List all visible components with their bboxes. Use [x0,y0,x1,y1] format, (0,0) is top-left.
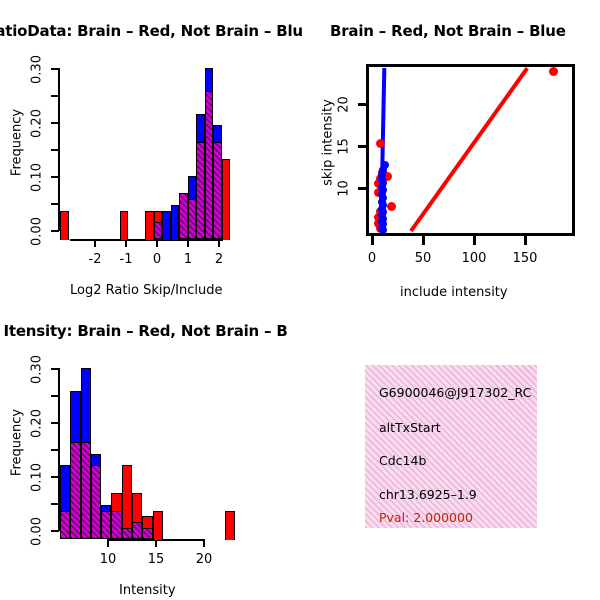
histogram-bar [122,528,132,539]
panel-scatter-xtick [524,236,527,245]
panel-intensity-ytick [51,530,59,532]
histogram-bar [222,159,231,240]
panel-intensity-histogram: ne Itensity: Brain – Red, Not Brain – B … [0,300,300,600]
scatter-point-red [549,67,558,76]
regression-line-red [410,67,530,232]
panel-ratio-ylabel: Frequency [10,103,25,183]
panel-ratio-ytick-label: 0.30 [30,50,45,90]
panel-ratio-xtick [156,239,158,247]
panel-intensity-ytick [51,503,59,505]
info-line: Cdc14b [379,453,426,468]
panel-intensity-xtick [155,539,157,547]
panel-intensity-xtick [203,539,205,547]
panel-scatter-frame-right [572,64,575,236]
histogram-bar [213,125,222,144]
panel-scatter-xtick [473,236,476,245]
panel-scatter-ytick-label: 10 [337,174,352,204]
panel-ratio-xtick-label: -1 [111,252,141,267]
panel-intensity-ytick-label: 0.20 [30,404,45,444]
histogram-bar [196,142,205,239]
panel-ratio-xtick [125,239,127,247]
panel-scatter: Brain – Red, Not Brain – Blue skip inten… [300,0,600,300]
histogram-bar [188,176,197,200]
panel-scatter-xtick [371,236,374,245]
histogram-bar [205,68,214,92]
panel-intensity-plot-area [60,360,240,540]
histogram-bar [225,511,235,541]
panel-intensity-xtick-label: 20 [189,552,219,567]
histogram-bar [70,391,80,444]
panel-ratio-ytick-label: 0.20 [30,104,45,144]
info-box: G6900046@J917302_RCaltTxStartCdc14bchr13… [365,365,537,528]
panel-scatter-xtick-label: 100 [459,251,489,266]
panel-ratio-ytick [51,230,59,232]
panel-intensity-ytick-label: 0.00 [30,512,45,552]
histogram-bar [81,368,91,444]
panel-scatter-ytick-label: 15 [337,132,352,162]
panel-ratio-xtick [218,239,220,247]
panel-intensity-ytick [51,395,59,397]
histogram-bar [81,442,91,539]
histogram-bar [153,511,163,541]
panel-intensity-ytick-label: 0.10 [30,458,45,498]
histogram-bar [196,114,205,144]
panel-intensity-ylabel: Frequency [10,403,25,483]
histogram-bar [213,142,222,239]
info-line: G6900046@J917302_RC [379,385,531,400]
histogram-bar [132,493,142,523]
histogram-bar [120,211,129,241]
panel-scatter-xtick-label: 50 [408,251,438,266]
histogram-bar [171,205,180,240]
histogram-bar [60,511,70,540]
histogram-bar [111,493,121,512]
panel-ratio-ytick [51,203,59,205]
histogram-bar [122,465,132,529]
histogram-bar [162,211,171,241]
panel-intensity-xtick-label: 15 [141,552,171,567]
histogram-bar [179,193,188,239]
scatter-point-red [387,202,396,211]
panel-ratio-histogram: RatioData: Brain – Red, Not Brain – Blu … [0,0,300,300]
panel-scatter-xlabel: include intensity [400,285,508,300]
panel-scatter-ytick [358,103,367,106]
panel-scatter-frame-bottom [366,233,575,236]
panel-ratio-xtick-label: 2 [204,252,234,267]
panel-scatter-ytick [358,145,367,148]
panel-ratio-ytick-label: 0.10 [30,158,45,198]
panel-ratio-xtick-label: 1 [173,252,203,267]
panel-scatter-title: Brain – Red, Not Brain – Blue [330,22,566,40]
panel-scatter-xtick [422,236,425,245]
histogram-bar [205,91,214,239]
panel-scatter-ytick-label: 20 [337,90,352,120]
histogram-bar [188,199,197,239]
histogram-bar [145,211,154,241]
panel-scatter-plot-area [369,67,572,233]
panel-ratio-ytick [51,149,59,151]
panel-ratio-xtick [94,239,96,247]
histogram-bar [60,465,70,512]
panel-scatter-xtick-label: 0 [357,251,387,266]
histogram-bar [142,528,152,539]
panel-ratio-title: RatioData: Brain – Red, Not Brain – Blu [0,22,303,40]
panel-intensity-ytick [51,422,59,424]
histogram-bar [111,511,121,540]
panel-scatter-xtick-label: 150 [510,251,540,266]
panel-ratio-ytick [51,68,59,70]
panel-ratio-plot-area [60,60,230,240]
info-line: altTxStart [379,420,441,435]
scatter-point-red [376,139,385,148]
panel-ratio-xtick [187,239,189,247]
histogram-bar [91,465,101,539]
panel-intensity-xtick [107,539,109,547]
panel-intensity-ytick [51,368,59,370]
panel-intensity-ytick [51,476,59,478]
panel-scatter-ylabel: skip intensity [321,98,336,188]
histogram-bar [70,442,80,539]
histogram-bar [154,222,163,239]
panel-intensity-xtick-label: 10 [93,552,123,567]
panel-ratio-ytick-label: 0.00 [30,212,45,252]
panel-ratio-ytick [51,176,59,178]
info-line: chr13.6925–1.9 [379,487,477,502]
info-pval: Pval: 2.000000 [379,510,473,525]
panel-info: G6900046@J917302_RCaltTxStartCdc14bchr13… [300,300,600,600]
panel-intensity-title: ne Itensity: Brain – Red, Not Brain – B [0,322,288,340]
panel-intensity-ytick-label: 0.30 [30,350,45,390]
panel-ratio-xtick-label: 0 [142,252,172,267]
panel-intensity-xlabel: Intensity [119,583,176,598]
histogram-bar [101,511,111,540]
histogram-bar [132,522,142,539]
panel-ratio-xlabel: Log2 Ratio Skip/Include [70,283,222,298]
panel-ratio-ytick [51,95,59,97]
panel-ratio-xtick-label: -2 [80,252,110,267]
panel-scatter-ytick [358,187,367,190]
histogram-bar [60,211,69,241]
panel-ratio-ytick [51,122,59,124]
scatter-point-blue [379,226,387,233]
panel-intensity-ytick [51,449,59,451]
